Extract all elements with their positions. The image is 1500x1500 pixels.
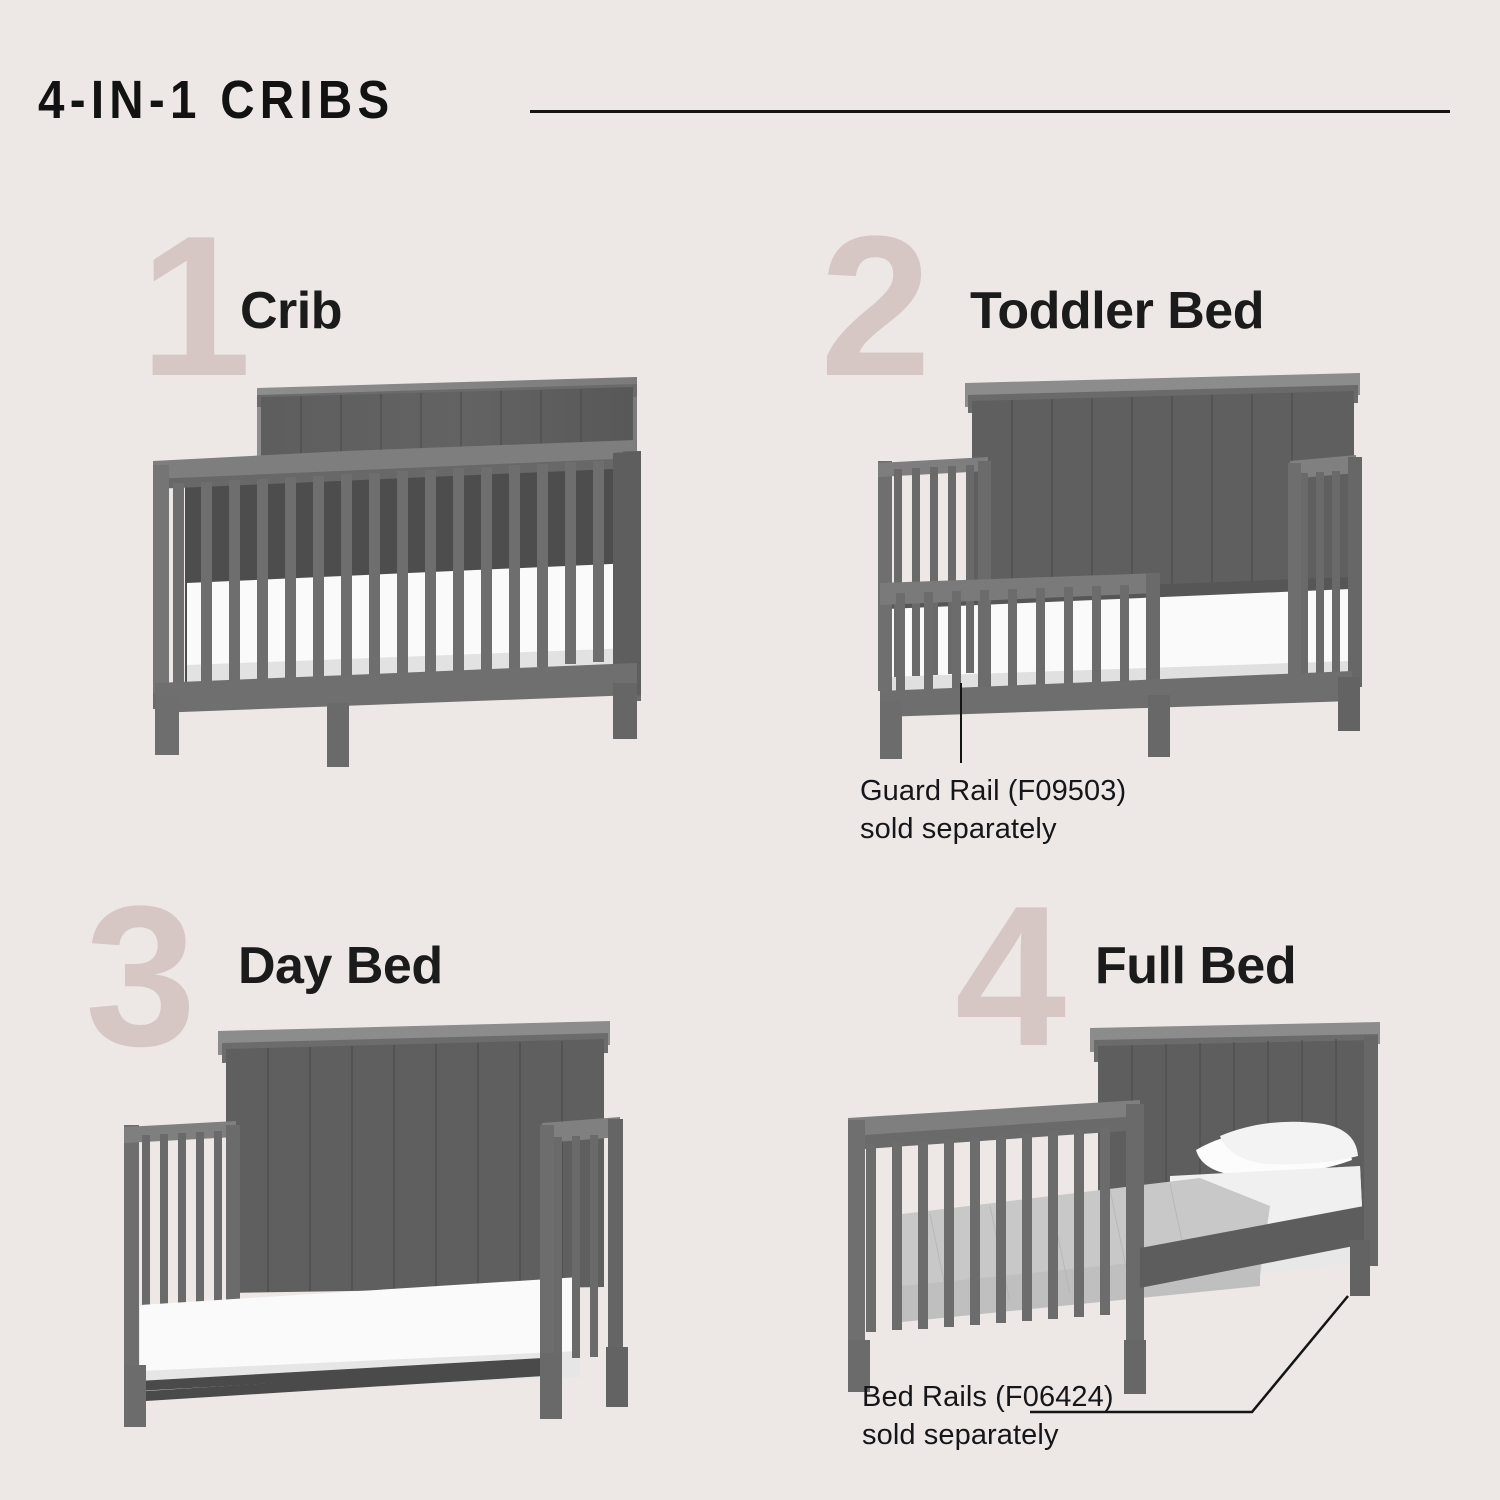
step-label-3: Day Bed [238,940,443,992]
crib-leg-front-right [327,703,349,767]
crib-illustration [145,365,655,790]
crib-leg-front-left [155,697,179,755]
daybed-leg-front-right [540,1353,562,1419]
step-label-2: Toddler Bed [970,285,1264,337]
crib-leg-back-right [613,683,637,739]
toddler-leg-back-right [1338,677,1360,731]
day-bed-illustration [110,1005,655,1435]
page-title: 4-IN-1 CRIBS [38,73,394,127]
toddler-bed-illustration [860,365,1370,790]
step-label-1: Crib [240,285,342,337]
fullbed-leg-back-right [1350,1240,1370,1296]
crib-left-end [153,465,173,709]
guard-rail-leader-line [960,683,962,763]
toddler-leg-front-left [880,701,902,759]
header-rule [530,110,1450,113]
guard-rail-caption: Guard Rail (F09503) sold separately [860,772,1126,849]
daybed-leg-front-left [124,1365,146,1427]
header: 4-IN-1 CRIBS [0,60,1500,140]
toddler-leg-front-right [1148,695,1170,757]
step-label-4: Full Bed [1095,940,1296,992]
daybed-leg-back-right [606,1347,628,1407]
bed-rails-caption: Bed Rails (F06424) sold separately [862,1378,1114,1455]
infographic-page: 4-IN-1 CRIBS 1 Crib [0,0,1500,1500]
